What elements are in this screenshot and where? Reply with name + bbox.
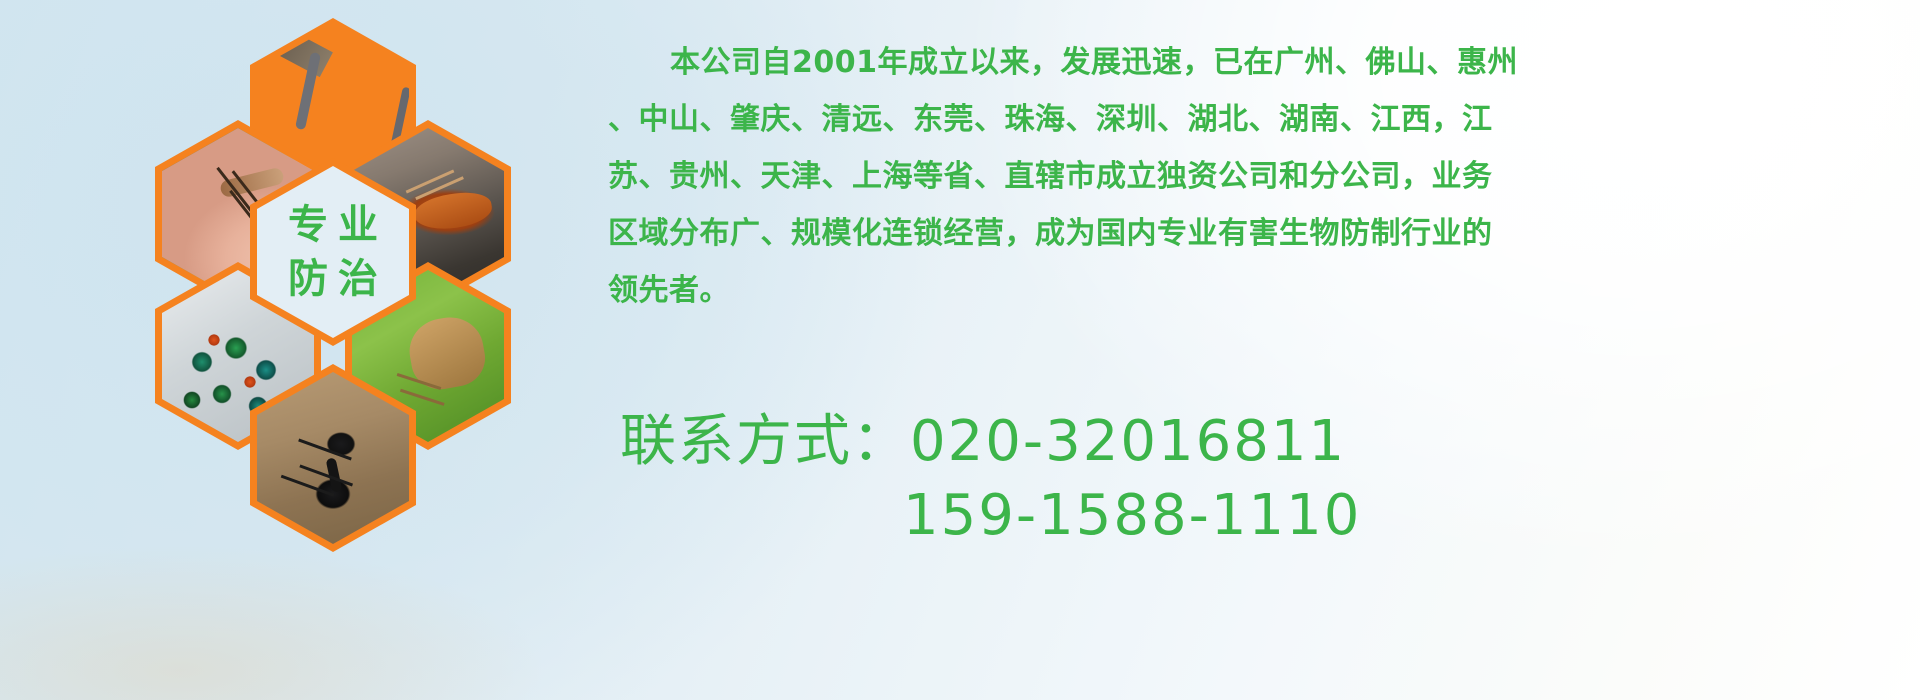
slogan-line-2: 防治	[278, 259, 388, 299]
ant-photo	[257, 372, 409, 544]
banner-canvas: 专业 防治 本公司自2001年成立以来，发展迅速，已在广州、佛山、惠州 、中山、…	[0, 0, 1920, 700]
contact-secondary-row: 159-1588-1110	[620, 479, 1920, 553]
description-line-1: 本公司自2001年成立以来，发展迅速，已在广州、佛山、惠州	[608, 34, 1908, 91]
slogan-line-1: 专业	[278, 205, 388, 245]
contact-phone-primary[interactable]: 020-32016811	[910, 409, 1346, 474]
description-line-2: 、中山、肇庆、清远、东莞、珠海、深圳、湖北、湖南、江西，江	[608, 91, 1908, 148]
contact-label: 联系方式：	[620, 409, 910, 474]
contact-block: 联系方式：020-32016811 159-1588-1110	[620, 405, 1920, 553]
honeycomb-graphic: 专业 防治	[70, 8, 610, 588]
hex-image-frame	[257, 372, 409, 544]
company-description: 本公司自2001年成立以来，发展迅速，已在广州、佛山、惠州 、中山、肇庆、清远、…	[608, 34, 1908, 319]
contact-primary-row: 联系方式：020-32016811	[620, 405, 1920, 479]
slogan-frame: 专业 防治	[257, 166, 409, 338]
description-line-4: 区域分布广、规模化连锁经营，成为国内专业有害生物防制行业的	[608, 205, 1908, 262]
description-line-3: 苏、贵州、天津、上海等省、直辖市成立独资公司和分公司，业务	[608, 148, 1908, 205]
description-line-5: 领先者。	[608, 262, 1908, 319]
contact-phone-secondary[interactable]: 159-1588-1110	[903, 483, 1361, 548]
